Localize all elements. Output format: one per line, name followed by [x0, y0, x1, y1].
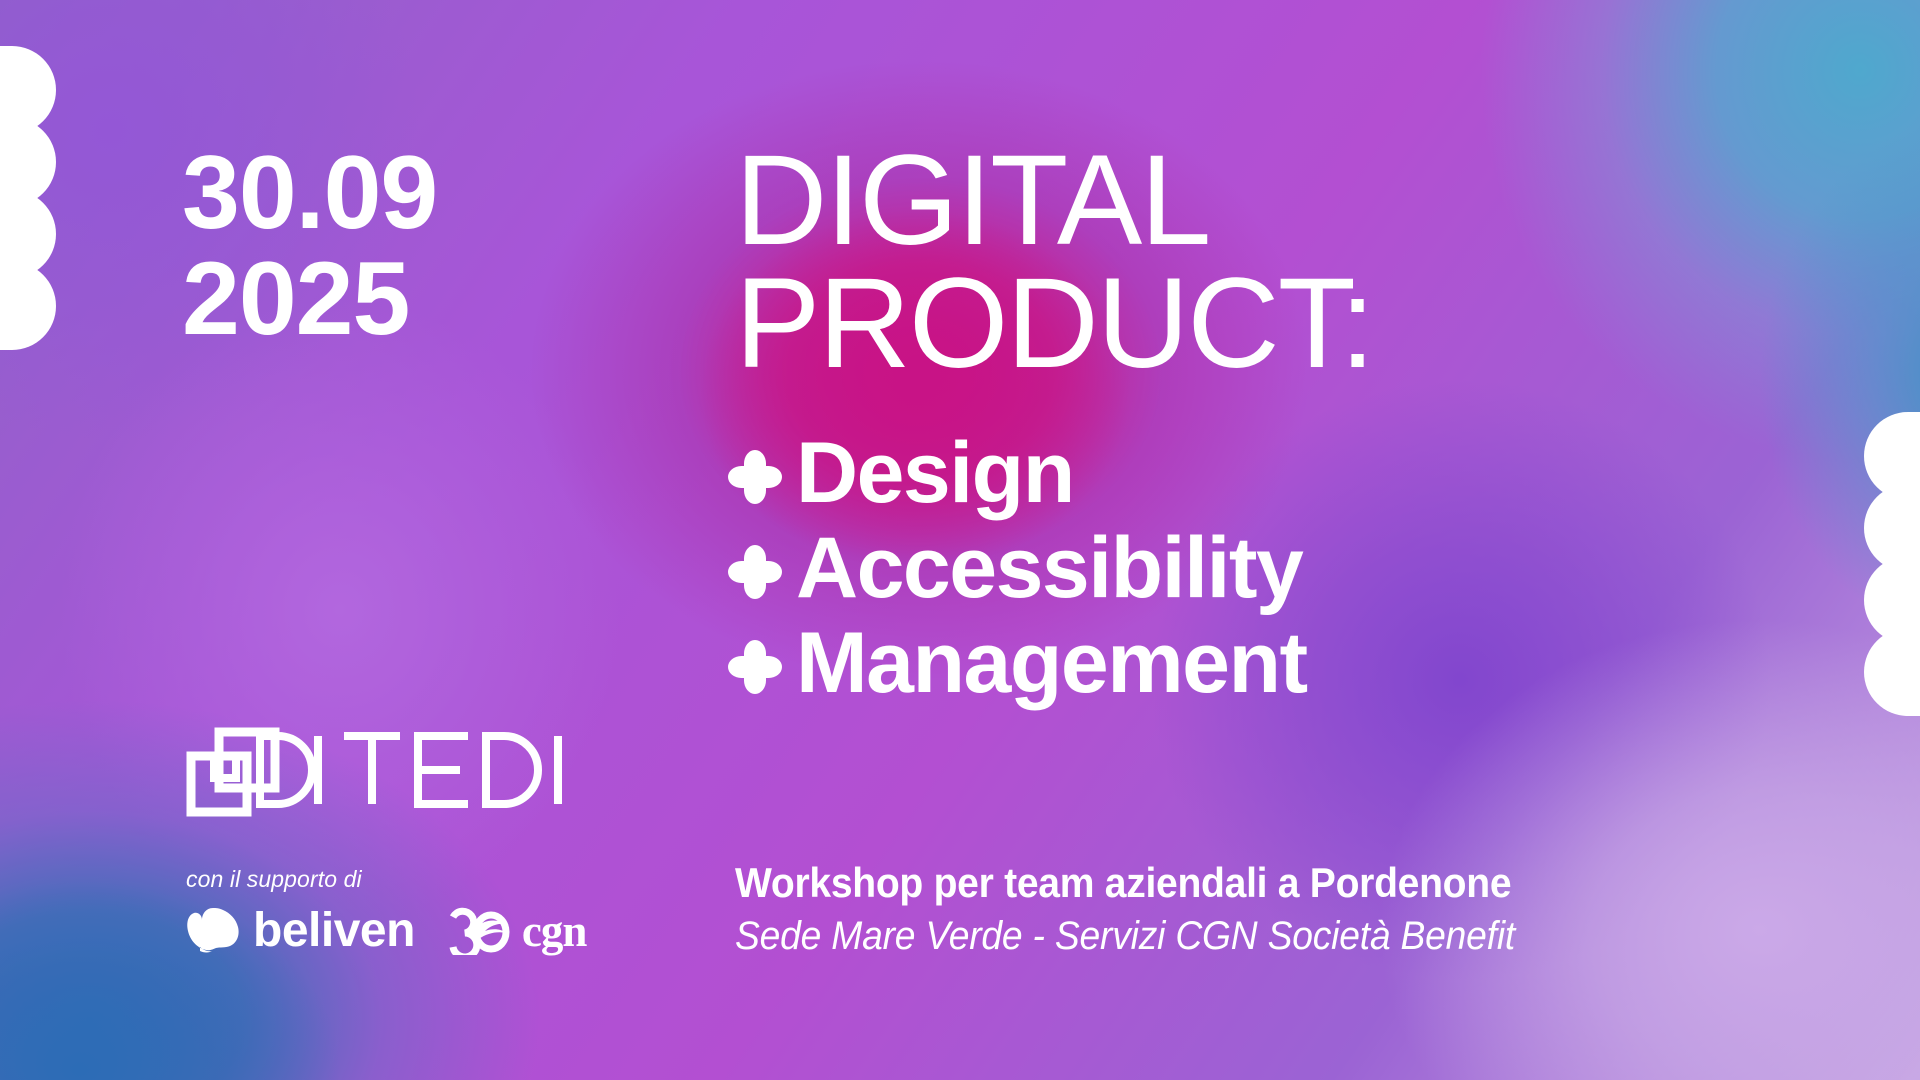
topic-label: Design — [796, 428, 1074, 519]
event-date-line-2: 2025 — [182, 246, 437, 352]
clover-bullet-icon — [728, 640, 782, 694]
sponsor-row: beliven cgn — [186, 903, 586, 958]
topic-list: Design Accessibility Management — [728, 428, 1307, 709]
sponsor-beliven: beliven — [186, 903, 415, 958]
caption-sub: Sede Mare Verde - Servizi CGN Società Be… — [735, 912, 1515, 960]
page-title: DIGITAL PRODUCT: — [735, 140, 1373, 386]
cgn-30-swoosh-icon — [449, 907, 519, 955]
sponsor-beliven-name: beliven — [253, 903, 415, 958]
list-item: Management — [728, 618, 1307, 709]
beliven-leaf-icon — [186, 906, 240, 956]
event-captions: Workshop per team aziendali a Pordenone … — [735, 858, 1574, 960]
sponsor-cgn-name: cgn — [522, 905, 587, 957]
clover-bullet-icon — [728, 545, 782, 599]
sponsor-cgn: cgn — [449, 905, 587, 957]
topic-label: Accessibility — [796, 523, 1302, 614]
caption-main: Workshop per team aziendali a Pordenone — [735, 858, 1515, 908]
list-item: Design — [728, 428, 1307, 519]
event-poster: 30.09 2025 DIGITAL PRODUCT: Design Acces… — [0, 0, 1920, 1080]
event-date-line-1: 30.09 — [182, 140, 437, 246]
support-label: con il supporto di — [186, 866, 586, 893]
ditedi-mark-icon — [186, 726, 586, 818]
headline-line-1: DIGITAL — [735, 140, 1373, 263]
support-section: con il supporto di beliven — [186, 866, 586, 958]
clover-bullet-icon — [728, 450, 782, 504]
ditedi-logo — [186, 726, 586, 818]
event-date: 30.09 2025 — [182, 140, 437, 352]
topic-label: Management — [796, 618, 1307, 709]
list-item: Accessibility — [728, 523, 1307, 614]
headline-line-2: PRODUCT: — [735, 263, 1373, 386]
